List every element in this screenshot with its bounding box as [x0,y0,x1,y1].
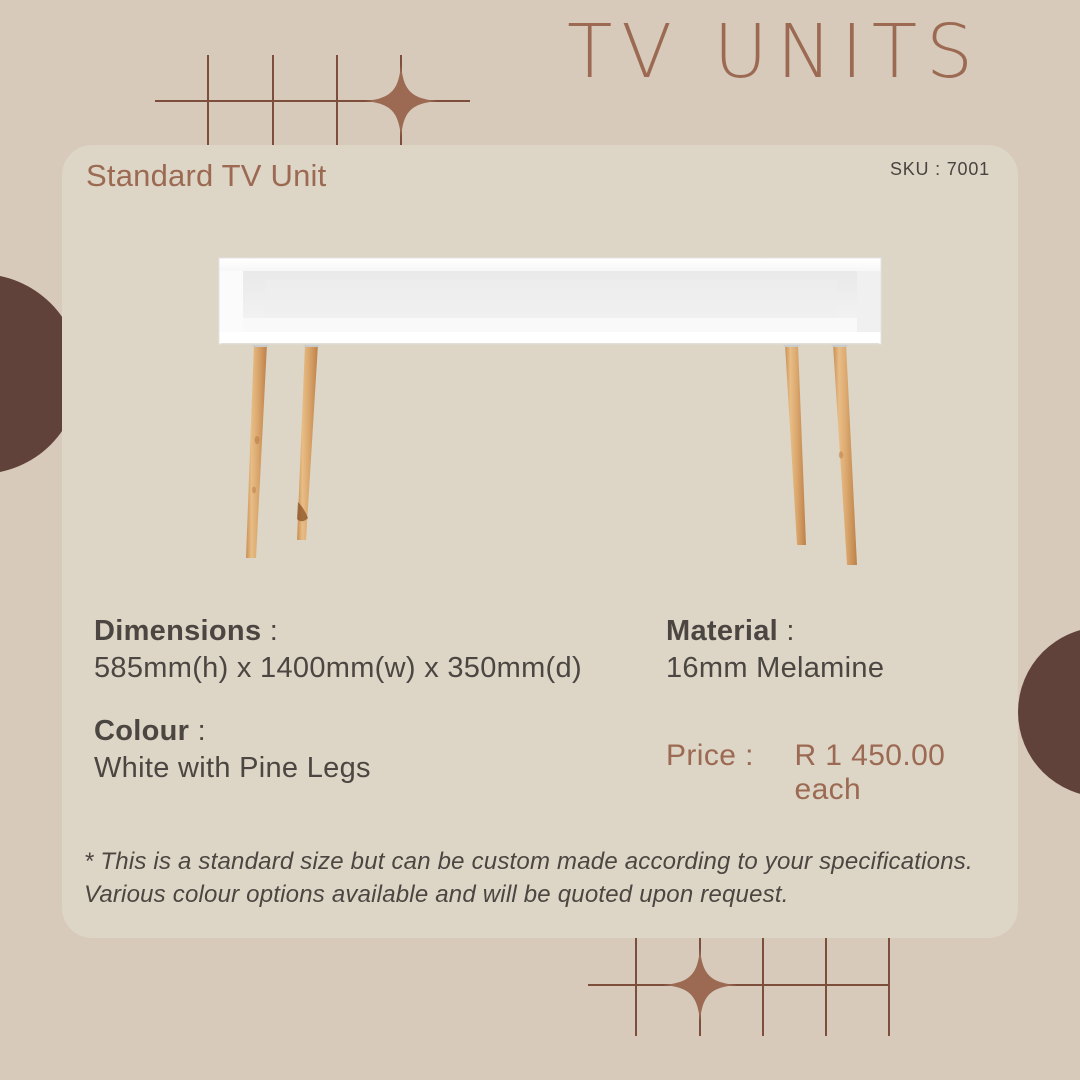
grid-decoration-bottom [560,920,960,1080]
tv-unit-carcass [219,258,881,345]
colour-value: White with Pine Legs [94,752,654,785]
grid-line-vertical [207,55,209,145]
grid-line-vertical [762,938,764,1036]
grid-line-vertical [888,938,890,1036]
grid-line-vertical [825,938,827,1036]
spec-column-left: Dimensions : 585mm(h) x 1400mm(w) x 350m… [94,615,654,785]
spec-material: Material : 16mm Melamine [666,615,1026,685]
price-value: R 1 450.00 each [794,739,1018,807]
poster-canvas: TV UNITS Standard TV Unit SKU : 7001 [0,0,1080,1080]
spec-dimensions: Dimensions : 585mm(h) x 1400mm(w) x 350m… [94,615,654,685]
product-image [205,240,895,600]
colour-label: Colour : [94,715,654,748]
grid-decoration-top [0,0,500,160]
material-label: Material : [666,615,1026,648]
footnote-line-2: Various colour options available and wil… [84,878,1004,911]
grid-line-vertical [635,938,637,1036]
footnote: * This is a standard size but can be cus… [84,845,1004,911]
grid-line-vertical [336,55,338,145]
sku-label: SKU : 7001 [890,159,990,180]
product-card: Standard TV Unit SKU : 7001 [62,145,1018,938]
footnote-line-1: * This is a standard size but can be cus… [84,845,1004,878]
spec-column-right: Material : 16mm Melamine [666,615,1026,685]
dimensions-label: Dimensions : [94,615,654,648]
spec-colour: Colour : White with Pine Legs [94,715,654,785]
grid-line-horizontal [588,984,890,986]
sparkle-icon [364,64,438,138]
product-name: Standard TV Unit [86,158,326,194]
grid-line-vertical [272,55,274,145]
page-title: TV UNITS [567,9,982,95]
circle-decoration-right [1018,627,1080,797]
material-value: 16mm Melamine [666,652,1026,685]
dimensions-value: 585mm(h) x 1400mm(w) x 350mm(d) [94,652,654,685]
price-row: Price : R 1 450.00 each [666,739,1018,807]
pine-legs [246,338,857,565]
sparkle-icon [663,948,737,1022]
price-label: Price : [666,739,794,773]
